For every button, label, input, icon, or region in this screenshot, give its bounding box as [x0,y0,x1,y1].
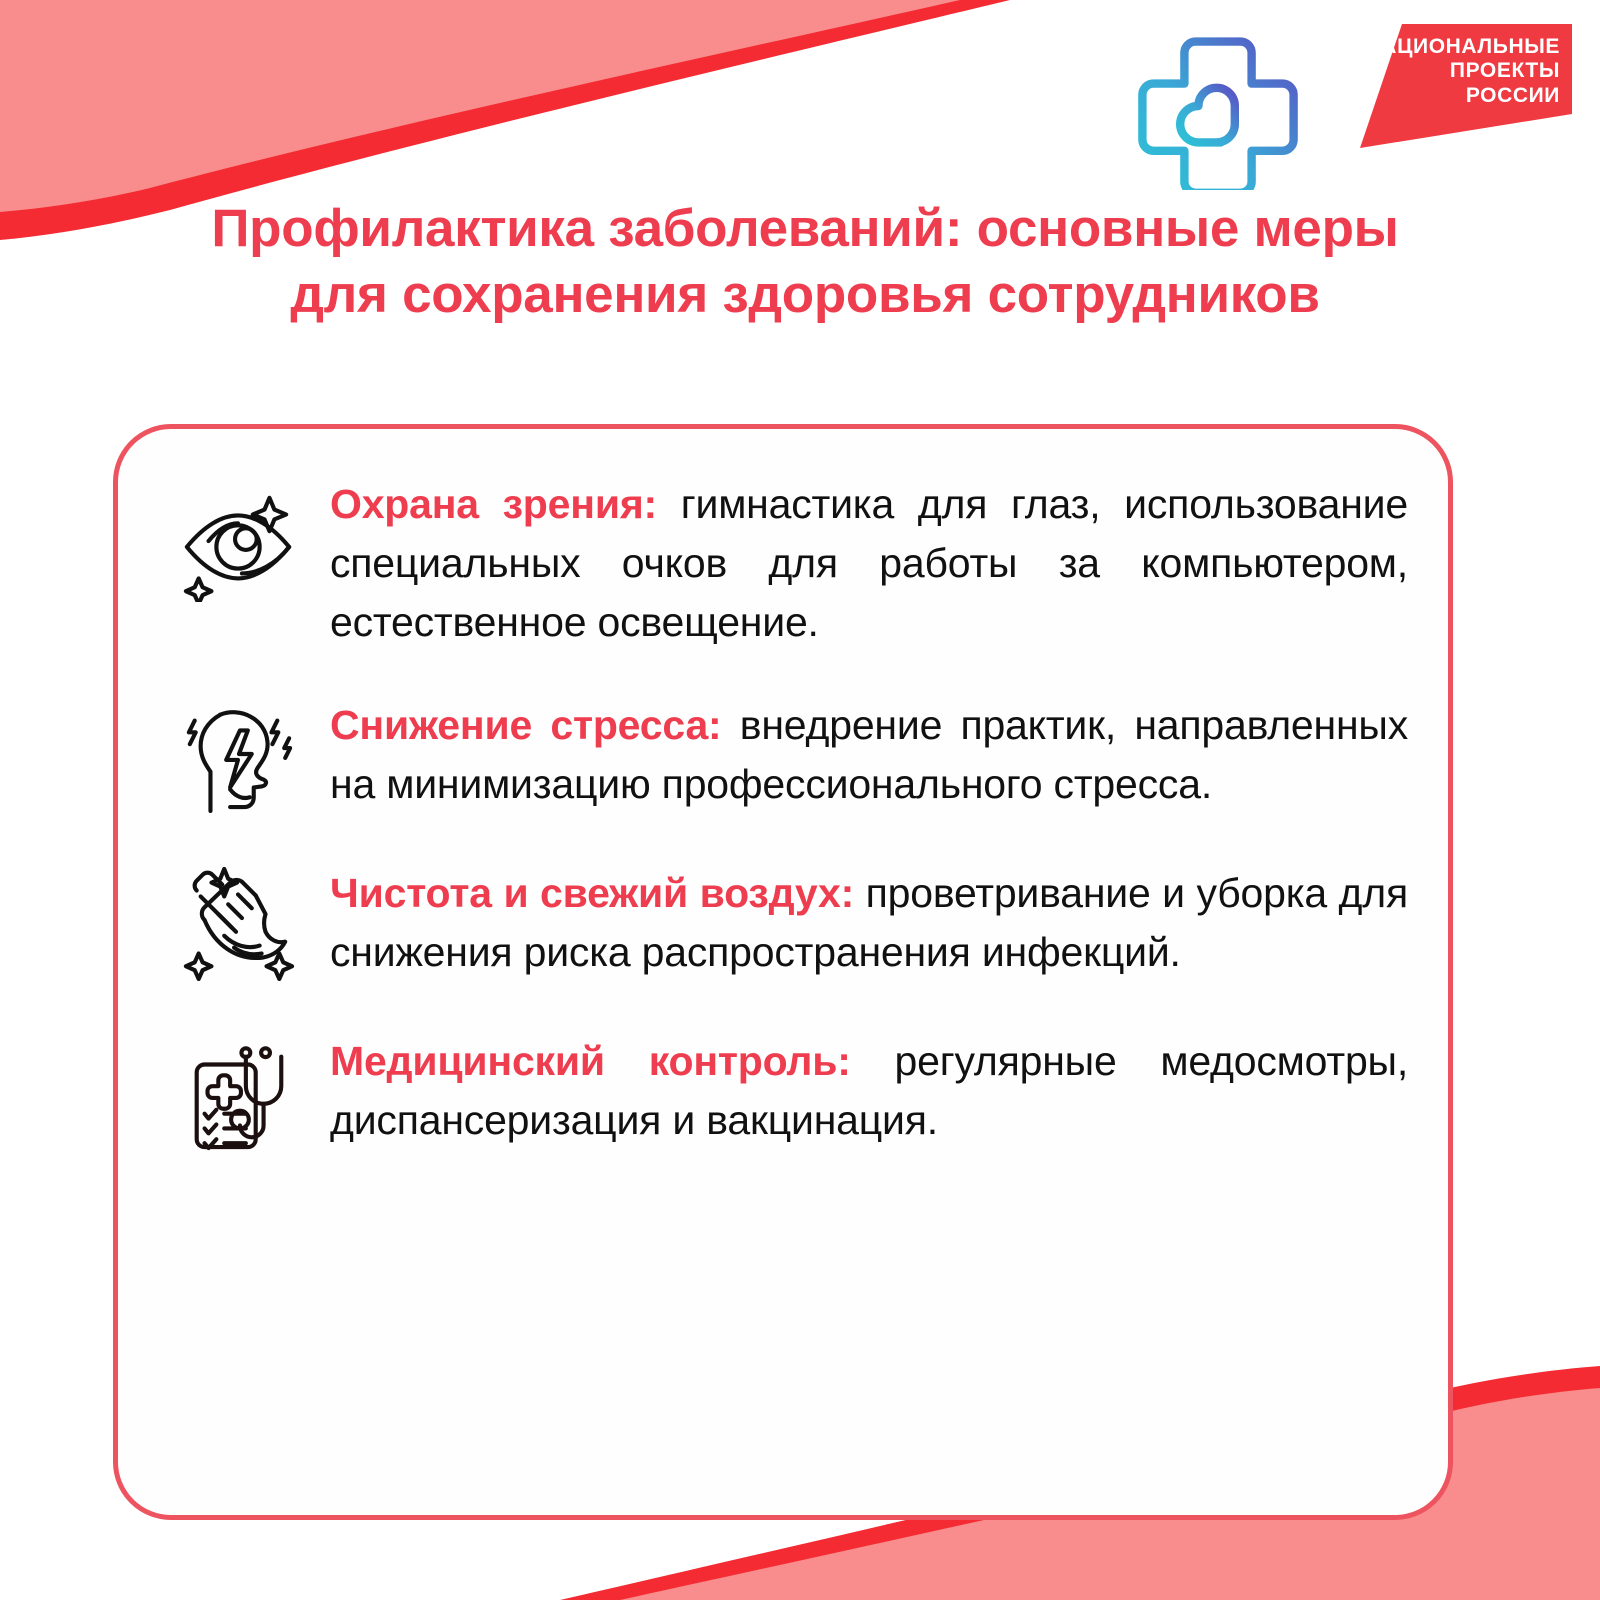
medical-cross-heart-logo [1134,22,1302,187]
list-item-text: Чистота и свежий воздух: проветривание и… [330,854,1408,982]
header-logos: НАЦИОНАЛЬНЫЕ ПРОЕКТЫ РОССИИ [1134,22,1572,192]
list-item-text: Медицинский контроль: регулярные медосмо… [330,1022,1408,1150]
badge-line-3: РОССИИ [1366,84,1560,108]
poster-root: НАЦИОНАЛЬНЫЕ ПРОЕКТЫ РОССИИ Профилактика… [0,0,1600,1600]
broom-sparkle-icon [172,856,304,988]
national-projects-badge: НАЦИОНАЛЬНЫЕ ПРОЕКТЫ РОССИИ [1342,22,1572,150]
head-lightning-stress-icon [172,688,304,820]
list-item-text: Снижение стресса: внедрение практик, нап… [330,686,1408,814]
list-item: Снижение стресса: внедрение практик, нап… [158,686,1408,820]
wave-top-left-light [0,0,960,212]
list-item: Медицинский контроль: регулярные медосмо… [158,1022,1408,1160]
list-item-text: Охрана зрения: гимнастика для глаз, испо… [330,469,1408,652]
badge-line-1: НАЦИОНАЛЬНЫЕ [1366,35,1560,59]
list-item: Чистота и свежий воздух: проветривание и… [158,854,1408,988]
badge-line-2: ПРОЕКТЫ [1366,59,1560,83]
measures-card: Охрана зрения: гимнастика для глаз, испо… [113,424,1453,1520]
badge-text: НАЦИОНАЛЬНЫЕ ПРОЕКТЫ РОССИИ [1366,35,1560,108]
list-item-lead: Медицинский контроль: [330,1038,851,1084]
page-title: Профилактика заболеваний: основные меры … [160,196,1450,329]
list-item-lead: Снижение стресса: [330,702,722,748]
clipboard-stethoscope-icon [172,1028,304,1160]
list-item-lead: Чистота и свежий воздух: [330,870,854,916]
list-item-lead: Охрана зрения: [330,481,657,527]
list-item: Охрана зрения: гимнастика для глаз, испо… [158,469,1408,652]
eye-sparkle-icon [172,477,304,609]
